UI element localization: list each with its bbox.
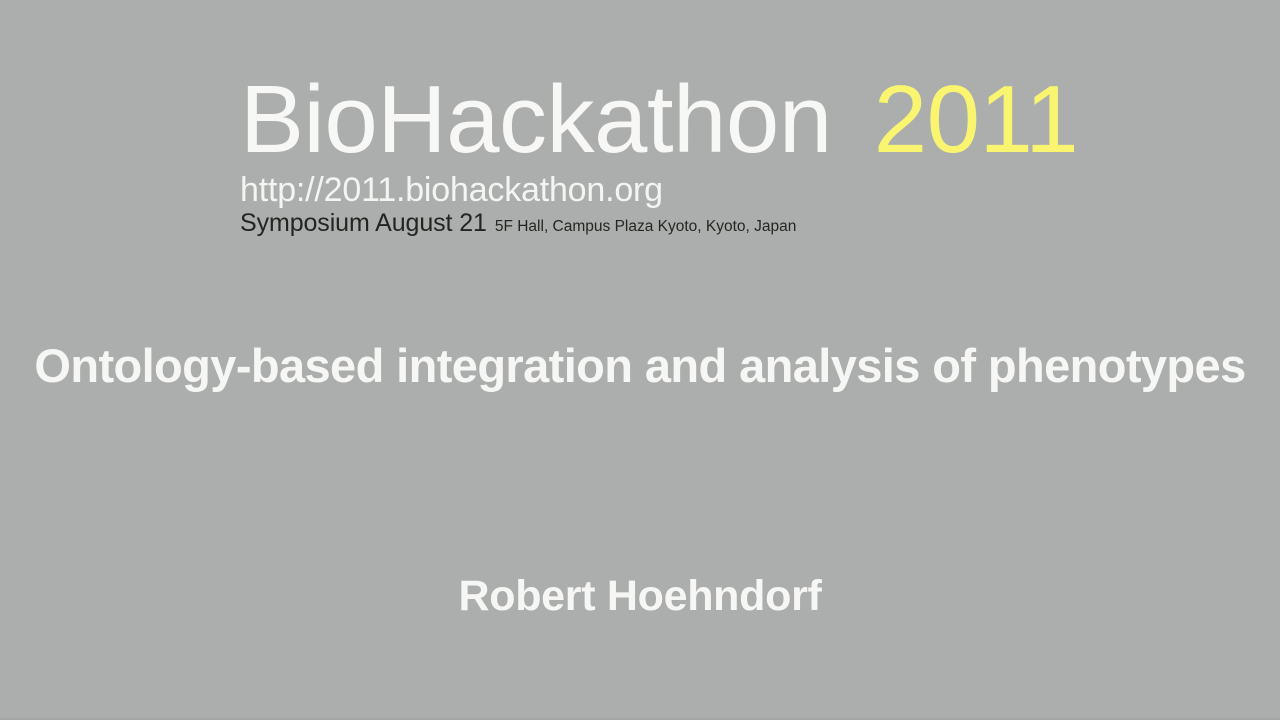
presentation-slide: BioHackathon2011 http://2011.biohackatho… <box>0 0 1280 720</box>
symposium-venue: 5F Hall, Campus Plaza Kyoto, Kyoto, Japa… <box>495 218 797 235</box>
banner-title-line: BioHackathon2011 <box>240 72 1250 168</box>
symposium-date: Symposium August 21 <box>240 209 487 237</box>
conference-year: 2011 <box>874 72 1078 168</box>
talk-author: Robert Hoehndorf <box>0 570 1280 622</box>
conference-brand-name: BioHackathon <box>240 72 832 168</box>
conference-banner: BioHackathon2011 http://2011.biohackatho… <box>240 72 1250 240</box>
conference-website-url[interactable]: http://2011.biohackathon.org <box>240 172 1250 208</box>
conference-details-line: Symposium August 215F Hall, Campus Plaza… <box>240 210 1250 240</box>
talk-title: Ontology-based integration and analysis … <box>0 338 1280 394</box>
